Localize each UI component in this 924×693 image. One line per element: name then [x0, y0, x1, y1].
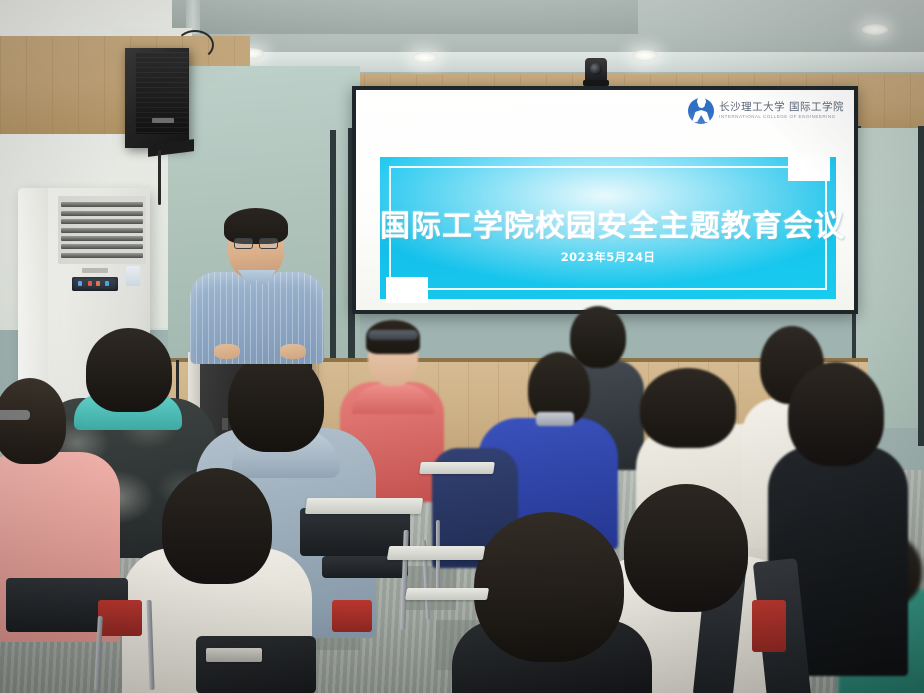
wall-divider: [330, 130, 336, 380]
projection-screen: 长沙理工大学 国际工学院 INTERNATIONAL COLLEGE OF EN…: [352, 86, 858, 314]
presenter-right-hand: [280, 344, 306, 359]
air-conditioner-display: [72, 277, 118, 291]
chair-cushion: [332, 600, 372, 632]
air-conditioner-grille: [58, 196, 146, 264]
right-frame-edge: [918, 126, 924, 446]
backpack: [196, 636, 316, 693]
air-conditioner-label: [126, 266, 140, 286]
slide-title: 国际工学院校园安全主题教育会议: [380, 201, 836, 245]
logo-chinese-text: 长沙理工大学 国际工学院: [719, 102, 844, 113]
slide-logo: 长沙理工大学 国际工学院 INTERNATIONAL COLLEGE OF EN…: [688, 98, 844, 124]
screen-surface: 长沙理工大学 国际工学院 INTERNATIONAL COLLEGE OF EN…: [356, 90, 854, 310]
chair-cushion: [752, 600, 786, 652]
chair-cushion: [98, 600, 142, 636]
camera-lens-icon: [590, 63, 602, 75]
chair-writing-tablet: [405, 588, 489, 600]
presenter-glasses-icon: [234, 238, 278, 247]
downlight-icon: [632, 50, 658, 61]
chair-writing-tablet: [419, 462, 495, 474]
chair-writing-tablet: [387, 546, 485, 560]
university-logo-icon: [688, 98, 714, 124]
backpack-label: [206, 648, 262, 662]
banner-corner-notch-bottom-left: [386, 277, 428, 303]
air-conditioner-brand: [82, 268, 108, 273]
ceiling-soffit: [168, 0, 638, 34]
slide-date: 2023年5月24日: [380, 249, 836, 265]
presenter-left-hand: [214, 344, 240, 359]
camera-icon: [585, 58, 607, 82]
logo-english-text: INTERNATIONAL COLLEGE OF ENGINEERING: [719, 115, 844, 120]
banner-corner-notch-top-right: [788, 153, 830, 181]
slide-banner: 国际工学院校园安全主题教育会议 2023年5月24日: [380, 157, 836, 299]
downlight-icon: [412, 52, 438, 63]
loudspeaker-cable: [158, 150, 161, 205]
downlight-icon: [862, 24, 888, 35]
chair-writing-tablet: [305, 498, 423, 514]
conference-room-photo: 长沙理工大学 国际工学院 INTERNATIONAL COLLEGE OF EN…: [0, 0, 924, 693]
loudspeaker-badge: [152, 118, 174, 123]
